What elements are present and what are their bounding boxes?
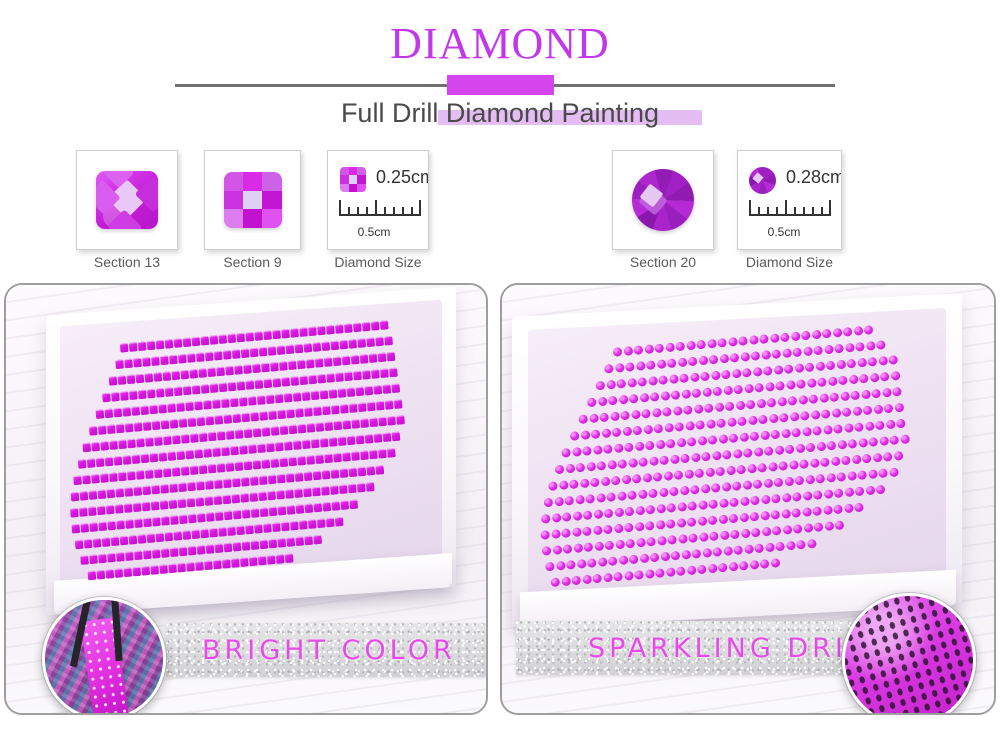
panel-bright-color: BRIGHT COLOR bbox=[4, 283, 488, 715]
card-label: Diamond Size bbox=[327, 254, 429, 270]
round-drill-rows bbox=[507, 314, 980, 632]
ruler-scale-label: 0.5cm bbox=[328, 225, 420, 239]
banner-label: BRIGHT COLOR bbox=[166, 623, 488, 677]
spec-card-row: Section 13 Section 9 0.25cm bbox=[0, 150, 1000, 275]
inset-artwork bbox=[845, 596, 973, 715]
spec-card-section-13: Section 13 bbox=[76, 150, 178, 250]
panel-sparkling-drill: SPARKLING DRILL bbox=[500, 283, 996, 715]
sparkling-drill-banner: SPARKLING DRILL bbox=[516, 621, 886, 675]
ruler-icon bbox=[749, 203, 831, 225]
diamond-size-value: 0.28cm bbox=[786, 167, 842, 188]
card-image-box bbox=[76, 150, 178, 250]
divider-badge bbox=[447, 75, 554, 95]
header: DIAMOND Full Drill Diamond Painting bbox=[0, 0, 1000, 140]
square-drill-rows bbox=[41, 308, 452, 601]
card-image-box bbox=[204, 150, 301, 250]
spec-card-diamond-size-round: 0.28cm 0.5cm Diamond Size bbox=[737, 150, 842, 250]
card-label: Section 13 bbox=[76, 254, 178, 270]
card-label: Section 9 bbox=[204, 254, 301, 270]
spec-card-section-20: Section 20 bbox=[612, 150, 714, 250]
ruler-scale-label: 0.5cm bbox=[738, 225, 830, 239]
ruler-icon bbox=[339, 203, 421, 225]
card-image-box: 0.28cm 0.5cm bbox=[737, 150, 842, 250]
card-label: Section 20 bbox=[612, 254, 714, 270]
subtitle-block: Full Drill Diamond Painting bbox=[0, 96, 1000, 136]
bright-color-banner: BRIGHT COLOR bbox=[166, 623, 486, 677]
page-title: DIAMOND bbox=[0, 22, 1000, 66]
page-subtitle: Full Drill Diamond Painting bbox=[0, 96, 1000, 130]
square-9-facet-diamond-icon bbox=[224, 172, 282, 228]
closeup-inset-sparkling-drill bbox=[842, 593, 976, 715]
round-diamond-sample-icon bbox=[749, 167, 776, 194]
spec-card-diamond-size-square: 0.25cm 0.5cm Diamond Size bbox=[327, 150, 429, 250]
card-image-box bbox=[612, 150, 714, 250]
square-diamond-sample-icon bbox=[340, 167, 366, 192]
spec-card-section-9: Section 9 bbox=[204, 150, 301, 250]
square-faceted-diamond-icon bbox=[96, 171, 158, 229]
card-label: Diamond Size bbox=[737, 254, 842, 270]
diamond-size-value: 0.25cm bbox=[376, 167, 429, 188]
closeup-inset-bright-color bbox=[42, 597, 166, 715]
title-divider bbox=[0, 74, 1000, 96]
round-faceted-diamond-icon bbox=[632, 169, 694, 231]
card-image-box: 0.25cm 0.5cm bbox=[327, 150, 429, 250]
